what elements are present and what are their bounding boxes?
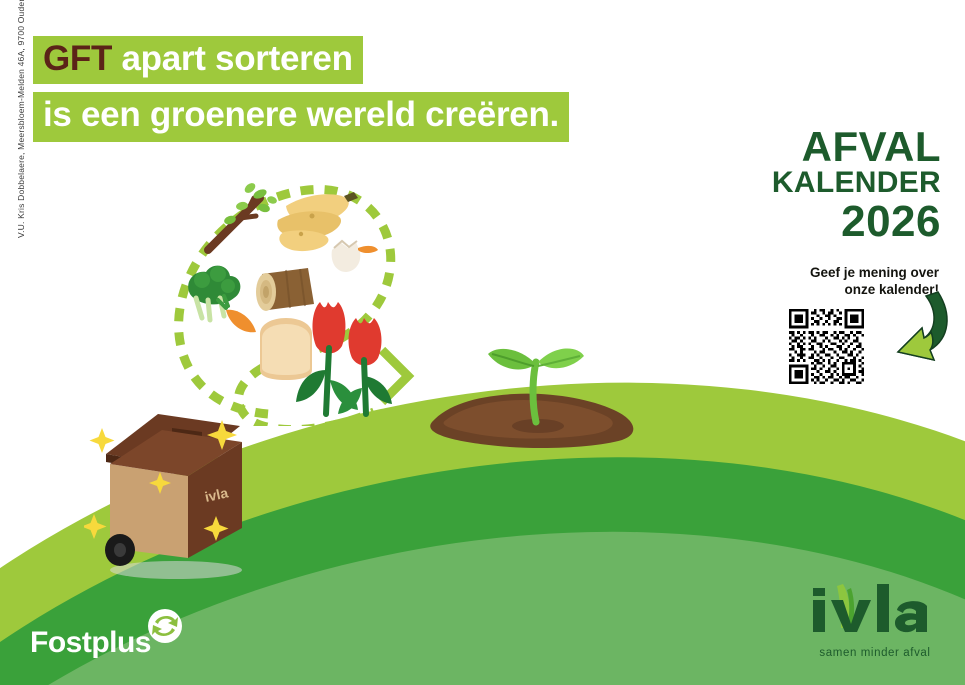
headline-line-1: GFT apart sorteren (33, 36, 363, 84)
tree-branch-icon (208, 181, 278, 250)
wood-log-icon (256, 268, 314, 311)
ivla-wordmark (805, 578, 945, 644)
gft-waste-bin: ivla (84, 392, 264, 582)
headline-line-1-rest: apart sorteren (112, 39, 353, 78)
gft-waste-items (168, 158, 434, 426)
banana-peel-icon (277, 192, 358, 251)
title-afval: AFVAL (731, 127, 941, 167)
headline-line-2: is een groenere wereld creëren. (33, 92, 569, 142)
fostplus-label: Fostplus (30, 628, 151, 658)
colophon-text: V.U. Kris Dobbelaere, Meersbloem-Melden … (16, 0, 26, 238)
ivla-logo: samen minder afval (805, 578, 945, 659)
headline-gft: GFT (43, 39, 112, 78)
green-dot-recycling-icon (147, 608, 183, 644)
title-year: 2026 (731, 199, 941, 245)
qr-code-graphic[interactable] (786, 306, 867, 387)
headline: GFT apart sorteren is een groenere werel… (33, 36, 569, 142)
curved-arrow-icon (878, 288, 956, 384)
calendar-cover: GFT apart sorteren is een groenere werel… (0, 0, 965, 685)
ivla-tagline: samen minder afval (805, 647, 945, 659)
title-block: AFVAL KALENDER 2026 (731, 127, 941, 245)
eggshell-icon (332, 241, 378, 272)
qr-code[interactable] (786, 306, 867, 387)
survey-line-1: Geef je mening over (754, 264, 939, 281)
title-kalender: KALENDER (731, 167, 941, 199)
sprout-in-soil (418, 318, 650, 450)
fostplus-logo: Fostplus (30, 608, 183, 658)
bread-slice-icon (260, 318, 312, 380)
